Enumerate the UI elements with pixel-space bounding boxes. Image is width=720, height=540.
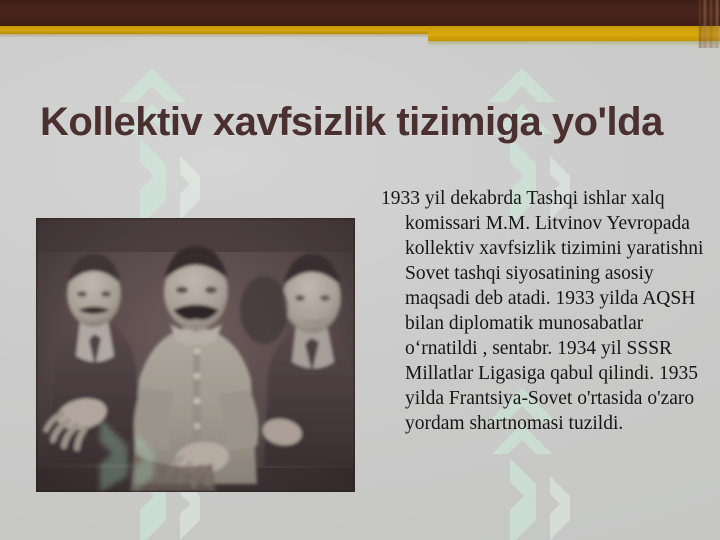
banner-edge-stripes (698, 0, 720, 48)
slide-title: Kollektiv xavfsizlik tizimiga yo'lda (40, 100, 690, 144)
presentation-slide: Kollektiv xavfsizlik tizimiga yo'lda (0, 0, 720, 540)
gold-accent-rule-right (428, 26, 720, 41)
gold-rule-shadow-left (0, 34, 428, 38)
gold-accent-rule-left (0, 26, 428, 34)
slide-body-text: 1933 yil dekabrda Tashqi ishlar xalq kom… (381, 186, 710, 436)
gold-rule-shadow-right (428, 41, 720, 48)
historical-photo (36, 218, 355, 492)
top-brown-banner (0, 0, 720, 26)
